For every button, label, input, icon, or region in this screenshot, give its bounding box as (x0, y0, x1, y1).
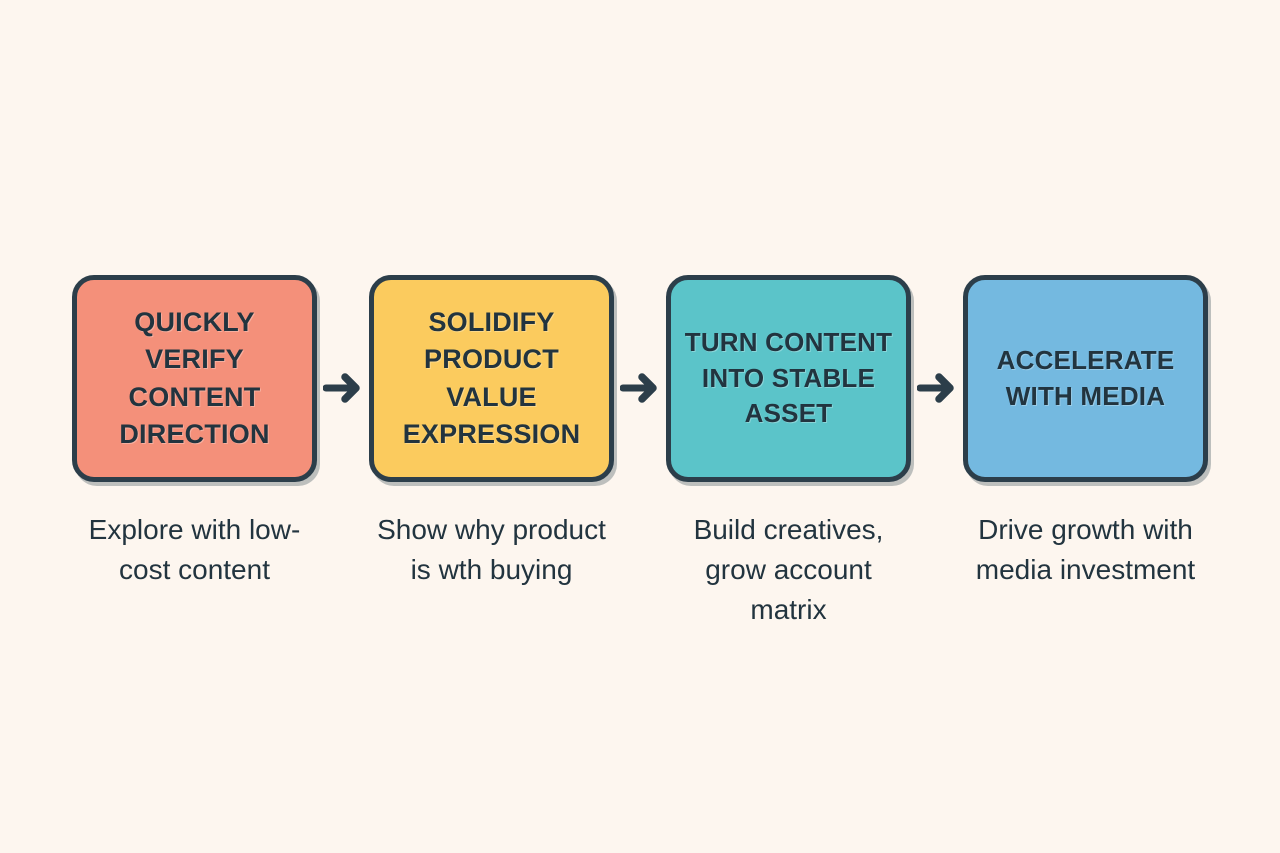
flow-step-1-caption: Explore with low-cost content (72, 510, 317, 590)
flow-step-2[interactable]: SOLIDIFY PRODUCT VALUE EXPRESSION Show w… (369, 275, 614, 590)
flow-connector-3 (911, 275, 963, 482)
flowchart-row: QUICKLY VERIFY CONTENT DIRECTION Explore… (0, 275, 1280, 485)
flow-step-3[interactable]: TURN CONTENT INTO STABLE ASSET Build cre… (666, 275, 911, 629)
flow-step-2-caption: Show why product is wth buying (369, 510, 614, 590)
flow-step-4[interactable]: ACCELERATE WITH MEDIA Drive growth with … (963, 275, 1208, 590)
arrow-right-icon (323, 371, 363, 405)
diagram-canvas: QUICKLY VERIFY CONTENT DIRECTION Explore… (0, 0, 1280, 853)
flow-step-1-box[interactable]: QUICKLY VERIFY CONTENT DIRECTION (72, 275, 317, 482)
flow-step-3-caption: Build creatives, grow account matrix (666, 510, 911, 629)
arrow-right-icon (917, 371, 957, 405)
flow-connector-2 (614, 275, 666, 482)
flow-step-1-title: QUICKLY VERIFY CONTENT DIRECTION (89, 304, 300, 453)
flow-step-4-caption: Drive growth with media investment (963, 510, 1208, 590)
flow-step-1[interactable]: QUICKLY VERIFY CONTENT DIRECTION Explore… (72, 275, 317, 590)
flow-step-3-box[interactable]: TURN CONTENT INTO STABLE ASSET (666, 275, 911, 482)
arrow-right-icon (620, 371, 660, 405)
flow-step-2-box[interactable]: SOLIDIFY PRODUCT VALUE EXPRESSION (369, 275, 614, 482)
flow-step-3-title: TURN CONTENT INTO STABLE ASSET (683, 325, 894, 433)
flow-step-2-title: SOLIDIFY PRODUCT VALUE EXPRESSION (386, 304, 597, 453)
flow-connector-1 (317, 275, 369, 482)
flow-step-4-box[interactable]: ACCELERATE WITH MEDIA (963, 275, 1208, 482)
flow-step-4-title: ACCELERATE WITH MEDIA (980, 343, 1191, 415)
